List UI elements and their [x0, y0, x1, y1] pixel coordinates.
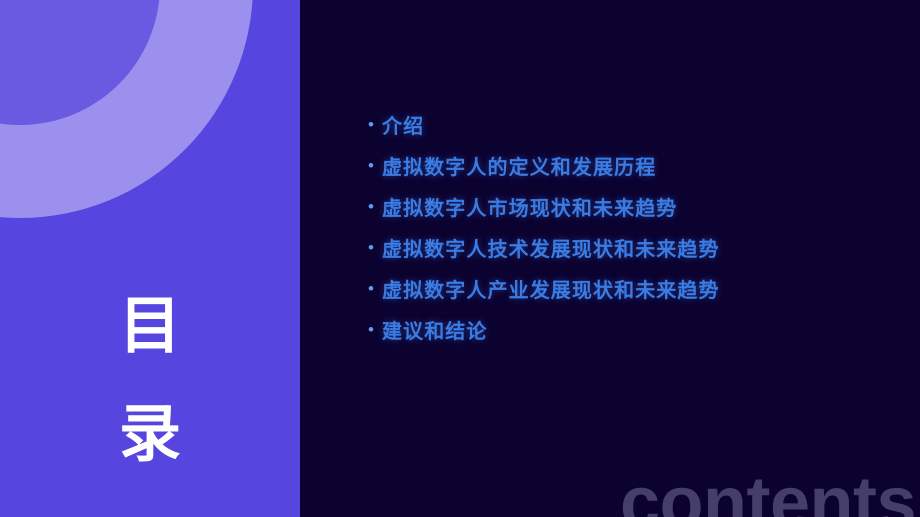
list-item[interactable]: • 介绍 [368, 104, 720, 145]
sidebar-panel: 目 录 [0, 0, 300, 517]
bullet-icon: • [368, 116, 382, 133]
list-item[interactable]: • 虚拟数字人的定义和发展历程 [368, 145, 720, 186]
contents-watermark: contents [620, 467, 916, 517]
list-item[interactable]: • 建议和结论 [368, 309, 720, 350]
bullet-icon: • [368, 157, 382, 174]
page-title-char-2: 录 [0, 404, 300, 512]
slide-canvas: 目 录 • 介绍 • 虚拟数字人的定义和发展历程 • 虚拟数字人市场现状和未来趋… [0, 0, 920, 517]
table-of-contents-list: • 介绍 • 虚拟数字人的定义和发展历程 • 虚拟数字人市场现状和未来趋势 • … [368, 104, 720, 350]
list-item-label: 虚拟数字人产业发展现状和未来趋势 [382, 274, 720, 303]
list-item-label: 建议和结论 [382, 315, 488, 344]
page-title-char-1: 目 [0, 296, 300, 404]
bullet-icon: • [368, 321, 382, 338]
bullet-icon: • [368, 239, 382, 256]
page-title: 目 录 [0, 296, 300, 512]
contents-panel: • 介绍 • 虚拟数字人的定义和发展历程 • 虚拟数字人市场现状和未来趋势 • … [300, 0, 920, 517]
bullet-icon: • [368, 198, 382, 215]
list-item-label: 虚拟数字人的定义和发展历程 [382, 151, 656, 180]
list-item-label: 介绍 [382, 110, 424, 139]
list-item[interactable]: • 虚拟数字人技术发展现状和未来趋势 [368, 227, 720, 268]
list-item-label: 虚拟数字人市场现状和未来趋势 [382, 192, 677, 221]
list-item[interactable]: • 虚拟数字人产业发展现状和未来趋势 [368, 268, 720, 309]
bullet-icon: • [368, 280, 382, 297]
list-item-label: 虚拟数字人技术发展现状和未来趋势 [382, 233, 720, 262]
list-item[interactable]: • 虚拟数字人市场现状和未来趋势 [368, 186, 720, 227]
